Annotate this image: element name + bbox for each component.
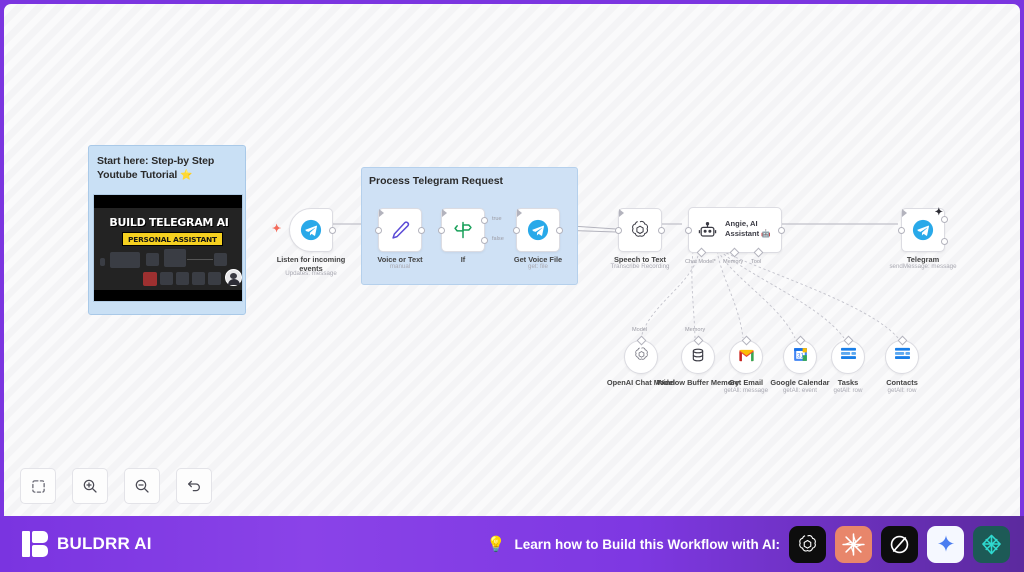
brand-name: BULDRR AI	[57, 534, 152, 554]
perplexity-logo[interactable]	[881, 526, 918, 563]
output-port-2[interactable]	[941, 238, 948, 245]
input-port[interactable]	[685, 227, 692, 234]
app-root: Start here: Step-by Step Youtube Tutoria…	[0, 0, 1024, 572]
output-port[interactable]	[418, 227, 425, 234]
node-if[interactable]: If true false	[441, 208, 485, 252]
group-title: Process Telegram Request	[369, 175, 503, 187]
tool-port[interactable]	[898, 336, 908, 346]
thumbnail-flow-graphic	[94, 248, 243, 290]
canvas-controls	[20, 468, 212, 504]
tool-sublabel: getAll: row	[852, 387, 952, 395]
input-port-dot[interactable]	[375, 227, 382, 234]
port-label-tool: Tool	[751, 259, 761, 265]
input-port-dot[interactable]	[513, 227, 520, 234]
tool-openai-chat-model[interactable]: Model OpenAI Chat Model	[624, 340, 658, 374]
tool-window-buffer-memory[interactable]: Memory Window Buffer Memory	[681, 340, 715, 374]
database-icon	[690, 347, 706, 368]
svg-text:31: 31	[796, 352, 804, 359]
gmail-icon	[738, 348, 755, 367]
lightbulb-icon: 💡	[487, 535, 506, 553]
sticky-note[interactable]: Start here: Step-by Step Youtube Tutoria…	[88, 145, 246, 315]
zoom-in-button[interactable]	[72, 468, 108, 504]
node-sublabel: sendMessage: message	[873, 263, 973, 271]
ai-logos	[789, 526, 1010, 563]
tool-port[interactable]	[637, 336, 647, 346]
tool-port[interactable]	[694, 336, 704, 346]
openai-logo[interactable]	[789, 526, 826, 563]
mistral-logo[interactable]	[973, 526, 1010, 563]
robot-emoji: 🤖	[761, 229, 770, 238]
node-sublabel: Updates: message	[261, 270, 361, 278]
output-port[interactable]	[778, 227, 785, 234]
node-speech-to-text[interactable]: Speech to Text Transcribe Recording	[618, 208, 662, 252]
node-get-voice-file[interactable]: Get Voice File get: file	[516, 208, 560, 252]
telegram-icon	[290, 209, 332, 251]
telegram-icon	[517, 209, 559, 251]
gemini-logo[interactable]	[927, 526, 964, 563]
tool-contacts[interactable]: Contacts getAll: row	[885, 340, 919, 374]
port-label-false: false	[492, 236, 504, 242]
output-port-1[interactable]	[941, 216, 948, 223]
node-label: Angie, AI Assistant 🤖	[725, 219, 781, 239]
thumbnail-title: BUILD TELEGRAM AI	[94, 216, 243, 229]
tool-port-label: Model	[632, 327, 647, 333]
input-port-dot[interactable]	[898, 227, 905, 234]
sticky-note-title: Start here: Step-by Step Youtube Tutoria…	[97, 155, 237, 182]
edit-pencil-icon	[379, 209, 421, 251]
input-port-dot[interactable]	[438, 227, 445, 234]
tool-port[interactable]	[796, 336, 806, 346]
node-telegram-send[interactable]: ✦ Telegram sendMessage: message	[901, 208, 945, 252]
baserow-icon	[894, 347, 911, 367]
openai-icon	[619, 209, 661, 251]
thumbnail-subtitle: PERSONAL ASSISTANT	[122, 232, 223, 246]
baserow-icon	[840, 347, 857, 367]
port-label-memory: Memory	[723, 259, 743, 265]
node-listen-for-incoming-events[interactable]: Listen for incoming events Updates: mess…	[289, 208, 333, 252]
output-port[interactable]	[329, 227, 336, 234]
google-calendar-icon: 31	[792, 346, 809, 368]
claude-logo[interactable]	[835, 526, 872, 563]
tool-get-email[interactable]: Get Email getAll: message	[729, 340, 763, 374]
tool-port-label: Memory	[685, 327, 705, 333]
promo-banner: BULDRR AI 💡 Learn how to Build this Work…	[0, 516, 1024, 572]
tool-google-calendar[interactable]: 31 Google Calendar getAll: event	[783, 340, 817, 374]
signpost-icon	[442, 209, 484, 251]
brand: BULDRR AI	[22, 531, 152, 557]
cta-group: 💡 Learn how to Build this Workflow with …	[487, 526, 1010, 563]
port-label-true: true	[492, 216, 502, 222]
star-icon: ⭐	[180, 170, 192, 181]
workflow-canvas[interactable]: Start here: Step-by Step Youtube Tutoria…	[4, 4, 1020, 516]
presenter-avatar	[225, 269, 242, 286]
fit-to-view-button[interactable]	[20, 468, 56, 504]
output-port[interactable]	[556, 227, 563, 234]
reset-button[interactable]	[176, 468, 212, 504]
zoom-out-button[interactable]	[124, 468, 160, 504]
add-node-marker[interactable]: ✦	[272, 222, 281, 235]
openai-icon	[633, 346, 650, 368]
node-ai-assistant[interactable]: Angie, AI Assistant 🤖 Chat Model* Memory…	[688, 207, 782, 253]
input-port-dot[interactable]	[615, 227, 622, 234]
tool-port[interactable]	[844, 336, 854, 346]
output-port-true[interactable]	[481, 217, 488, 224]
output-port[interactable]	[658, 227, 665, 234]
port-label-chat-model: Chat Model*	[685, 259, 716, 265]
output-port-false[interactable]	[481, 237, 488, 244]
tool-tasks[interactable]: Tasks getAll: row	[831, 340, 865, 374]
node-sublabel: Transcribe Recording	[590, 263, 690, 271]
youtube-thumbnail[interactable]: BUILD TELEGRAM AI PERSONAL ASSISTANT	[93, 194, 243, 302]
buldrr-logo-icon	[22, 531, 48, 557]
node-voice-or-text[interactable]: Voice or Text manual	[378, 208, 422, 252]
node-sublabel: get: file	[488, 263, 588, 271]
cta-text: Learn how to Build this Workflow with AI…	[515, 537, 781, 552]
tool-port[interactable]	[742, 336, 752, 346]
